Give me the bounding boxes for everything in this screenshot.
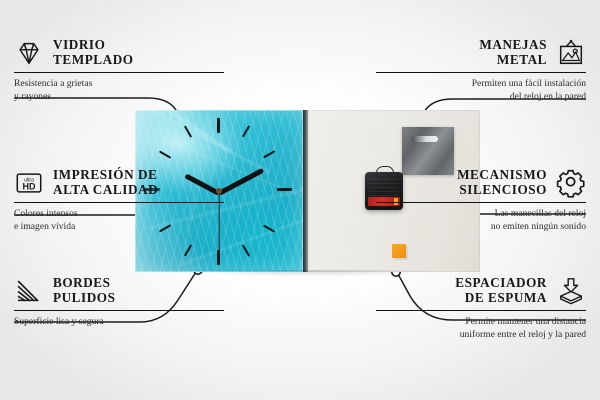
feature-divider <box>376 202 586 203</box>
feature-description: Colores intensos e imagen vívida <box>14 208 224 233</box>
hanger-slot <box>412 136 438 142</box>
feature-manejas-metal: MANEJAS METAL Permiten una fácil instala… <box>376 38 586 103</box>
feature-title: BORDES PULIDOS <box>53 276 115 306</box>
feature-header: BORDES PULIDOS <box>14 276 224 306</box>
feature-title-line1: ESPACIADOR <box>455 276 547 291</box>
picture-hanger-icon <box>556 38 586 68</box>
feature-description: Las manecillas del reloj no emiten ningú… <box>376 208 586 233</box>
feature-espaciador-de-espuma: ESPACIADOR DE ESPUMA Permite mantener un… <box>376 276 586 341</box>
feature-title-line1: BORDES <box>53 276 115 291</box>
feature-vidrio-templado: VIDRIO TEMPLADO Resistencia a grietas y … <box>14 38 224 103</box>
feature-title-line2: DE ESPUMA <box>455 291 547 306</box>
feature-title-line2: ALTA CALIDAD <box>53 183 158 198</box>
feature-header: MANEJAS METAL <box>376 38 586 68</box>
feature-title-line2: SILENCIOSO <box>457 183 547 198</box>
feature-mecanismo-silencioso: MECANISMO SILENCIOSO Las manecillas del … <box>376 168 586 233</box>
feature-header: ultra HD IMPRESIÓN DE ALTA CALIDAD <box>14 168 224 198</box>
diamond-icon <box>14 38 44 68</box>
feature-title-line2: PULIDOS <box>53 291 115 306</box>
feature-header: MECANISMO SILENCIOSO <box>376 168 586 198</box>
feature-title: VIDRIO TEMPLADO <box>53 38 134 68</box>
feature-title-line1: VIDRIO <box>53 38 134 53</box>
feature-description: Permite mantener una distancia uniforme … <box>376 316 586 341</box>
feature-divider <box>14 72 224 73</box>
ultra-hd-icon: ultra HD <box>14 168 44 198</box>
feature-description: Superficie lisa y segura <box>14 316 224 329</box>
gear-icon <box>556 168 586 198</box>
infographic-canvas: VIDRIO TEMPLADO Resistencia a grietas y … <box>0 0 600 400</box>
feature-divider <box>376 72 586 73</box>
feature-title-line1: IMPRESIÓN DE <box>53 168 158 183</box>
hour-marker <box>217 118 220 133</box>
feature-description: Permiten una fácil instalación del reloj… <box>376 78 586 103</box>
feature-title-line1: MECANISMO <box>457 168 547 183</box>
feature-title-line1: MANEJAS <box>479 38 547 53</box>
feature-title-line2: TEMPLADO <box>53 53 134 68</box>
feature-title: ESPACIADOR DE ESPUMA <box>455 276 547 306</box>
feature-header: ESPACIADOR DE ESPUMA <box>376 276 586 306</box>
feature-divider <box>14 202 224 203</box>
feature-divider <box>14 310 224 311</box>
hour-marker <box>277 188 292 191</box>
feature-title: MANEJAS METAL <box>479 38 547 68</box>
feature-title-line2: METAL <box>479 53 547 68</box>
feature-divider <box>376 310 586 311</box>
polished-edges-icon <box>14 276 44 306</box>
ultra-hd-icon-main-text: HD <box>23 182 36 192</box>
feature-bordes-pulidos: BORDES PULIDOS Superficie lisa y segura <box>14 276 224 329</box>
feature-header: VIDRIO TEMPLADO <box>14 38 224 68</box>
foam-spacer-icon <box>556 276 586 306</box>
feature-impresion-alta-calidad: ultra HD IMPRESIÓN DE ALTA CALIDAD Color… <box>14 168 224 233</box>
feature-title: MECANISMO SILENCIOSO <box>457 168 547 198</box>
feature-description: Resistencia a grietas y rayones <box>14 78 224 103</box>
foam-spacer-pad <box>392 244 406 258</box>
feature-title: IMPRESIÓN DE ALTA CALIDAD <box>53 168 158 198</box>
